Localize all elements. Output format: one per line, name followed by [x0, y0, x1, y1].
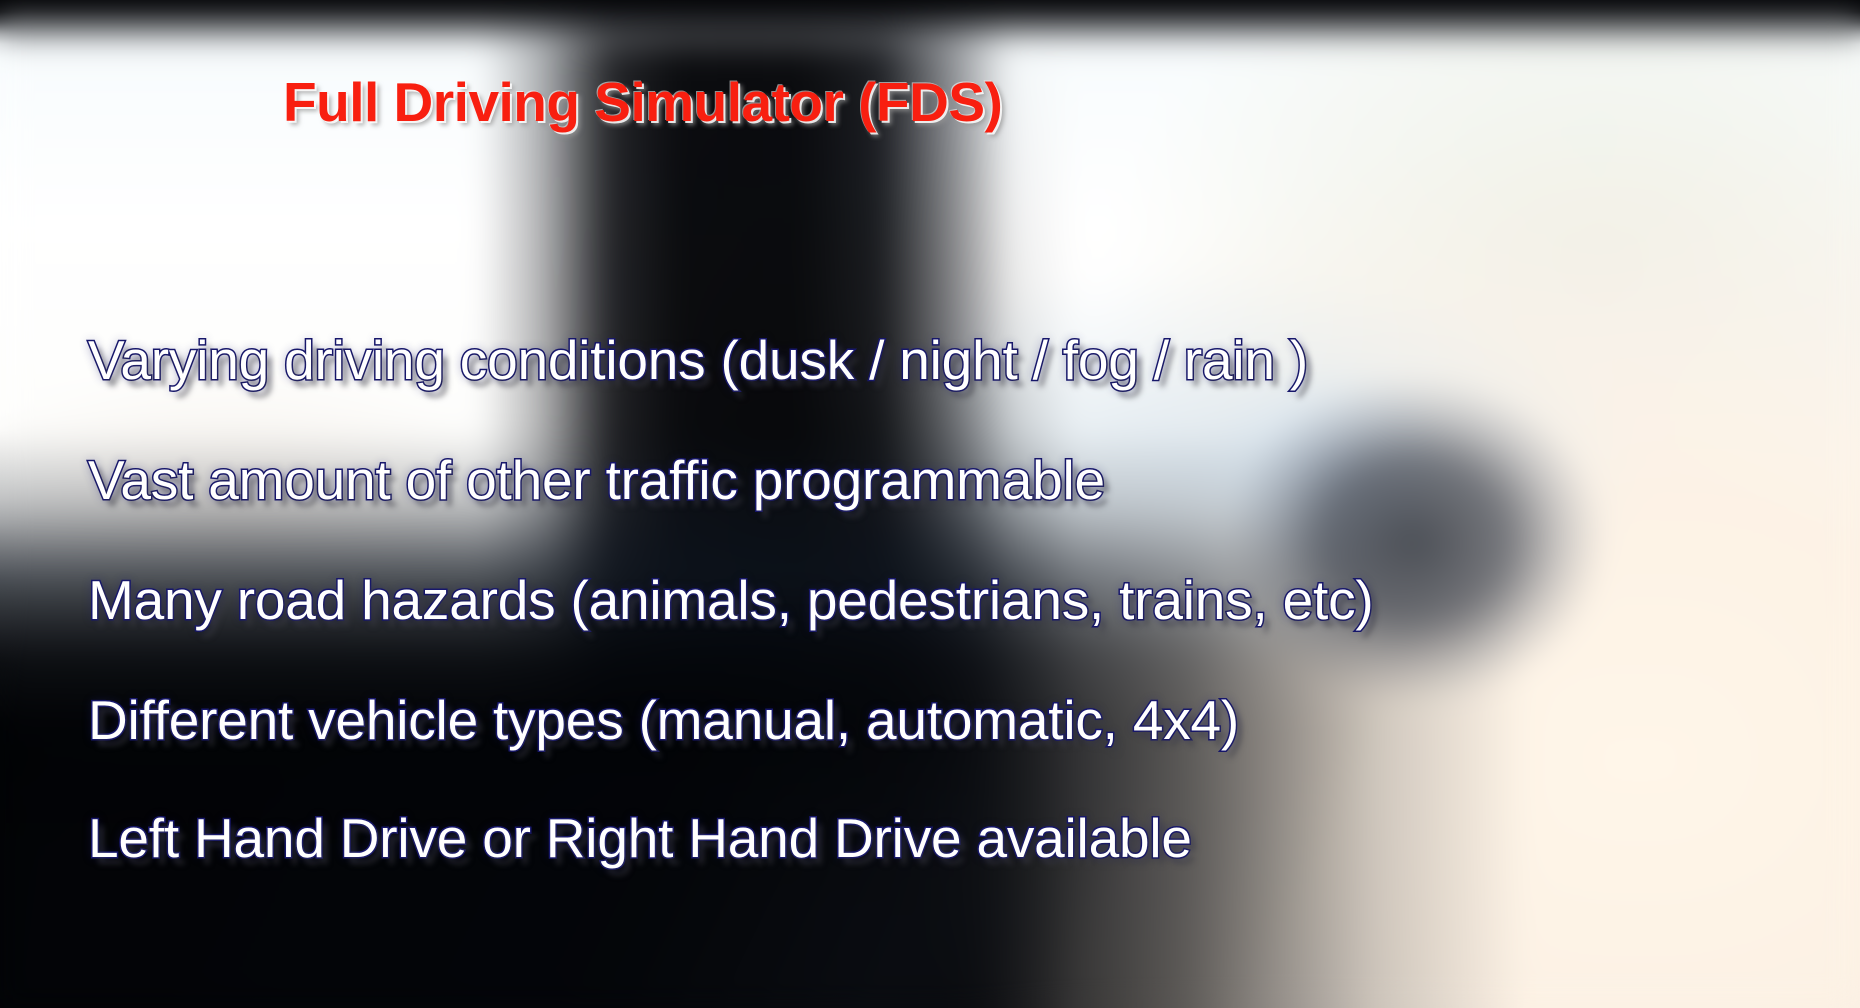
bullet-item-vehicle-types: Different vehicle types (manual, automat… — [88, 688, 1239, 752]
bullet-item-drive-side: Left Hand Drive or Right Hand Drive avai… — [88, 806, 1192, 870]
slide-title: Full Driving Simulator (FDS) — [283, 70, 1002, 134]
presentation-slide: Full Driving Simulator (FDS) Varying dri… — [0, 0, 1860, 1008]
bullet-item-road-hazards: Many road hazards (animals, pedestrians,… — [88, 568, 1374, 632]
bullet-item-driving-conditions: Varying driving conditions (dusk / night… — [88, 328, 1308, 392]
slide-content: Full Driving Simulator (FDS) Varying dri… — [0, 0, 1860, 1008]
bullet-item-traffic: Vast amount of other traffic programmabl… — [88, 448, 1105, 512]
